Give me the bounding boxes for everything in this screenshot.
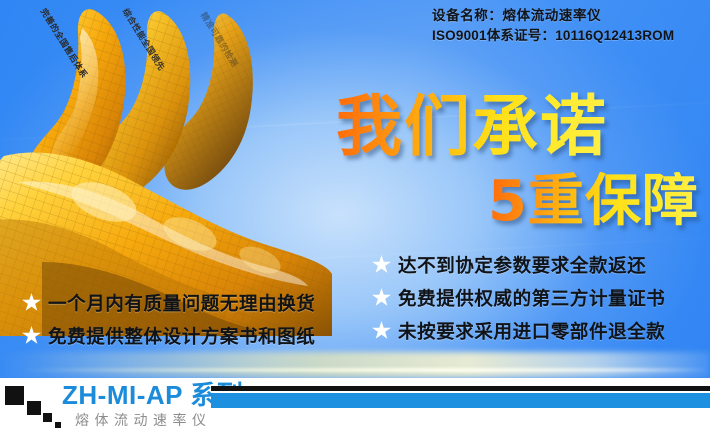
footer-bar: ZH-MI-AP 系列 熔体流动速率仪 bbox=[0, 378, 710, 440]
promise-text: 免费提供整体设计方案书和图纸 bbox=[48, 323, 315, 349]
star-icon bbox=[372, 255, 391, 274]
iso-certificate-text: ISO9001体系证号：10116Q12413ROM bbox=[432, 26, 674, 46]
square-icon-2 bbox=[27, 401, 41, 415]
headline-secondary: 5重保障 bbox=[488, 172, 699, 232]
product-subtitle: 熔体流动速率仪 bbox=[75, 411, 243, 431]
square-icon-1 bbox=[5, 386, 24, 405]
list-item: 免费提供整体设计方案书和图纸 bbox=[22, 319, 315, 352]
product-model-code: ZH-MI-AP bbox=[62, 380, 183, 410]
headline-primary: 我们承诺 bbox=[336, 92, 608, 162]
star-icon bbox=[22, 293, 41, 312]
promise-text: 一个月内有质量问题无理由换货 bbox=[48, 290, 315, 316]
product-promise-banner: 完善的全国售后体系 综合性能全国领先 精准可靠的检测 设备名称：熔体流动速率仪 … bbox=[0, 0, 710, 440]
list-item: 未按要求采用进口零部件退全款 bbox=[372, 314, 665, 347]
list-item: 一个月内有质量问题无理由换货 bbox=[22, 286, 315, 319]
promise-text: 未按要求采用进口零部件退全款 bbox=[398, 318, 665, 344]
list-item: 达不到协定参数要求全款返还 bbox=[372, 248, 665, 281]
footer-rule-group bbox=[211, 386, 710, 408]
footer-rule-blue bbox=[211, 393, 710, 408]
square-icon-3 bbox=[43, 413, 52, 422]
star-icon bbox=[372, 321, 391, 340]
poster-background: 完善的全国售后体系 综合性能全国领先 精准可靠的检测 设备名称：熔体流动速率仪 … bbox=[0, 0, 710, 378]
star-icon bbox=[22, 326, 41, 345]
device-spec-block: 设备名称：熔体流动速率仪 ISO9001体系证号：10116Q12413ROM bbox=[432, 6, 674, 46]
list-item: 免费提供权威的第三方计量证书 bbox=[372, 281, 665, 314]
horizon-glow-core bbox=[20, 368, 710, 372]
device-name-text: 设备名称：熔体流动速率仪 bbox=[432, 6, 674, 26]
square-icon-4 bbox=[55, 422, 61, 428]
star-icon bbox=[372, 288, 391, 307]
promise-text: 免费提供权威的第三方计量证书 bbox=[398, 285, 665, 311]
promise-list-left: 一个月内有质量问题无理由换货 免费提供整体设计方案书和图纸 bbox=[22, 286, 315, 352]
promise-list-right: 达不到协定参数要求全款返还 免费提供权威的第三方计量证书 未按要求采用进口零部件… bbox=[372, 248, 665, 347]
horizon-glow bbox=[0, 352, 710, 378]
promise-text: 达不到协定参数要求全款返还 bbox=[398, 252, 646, 278]
